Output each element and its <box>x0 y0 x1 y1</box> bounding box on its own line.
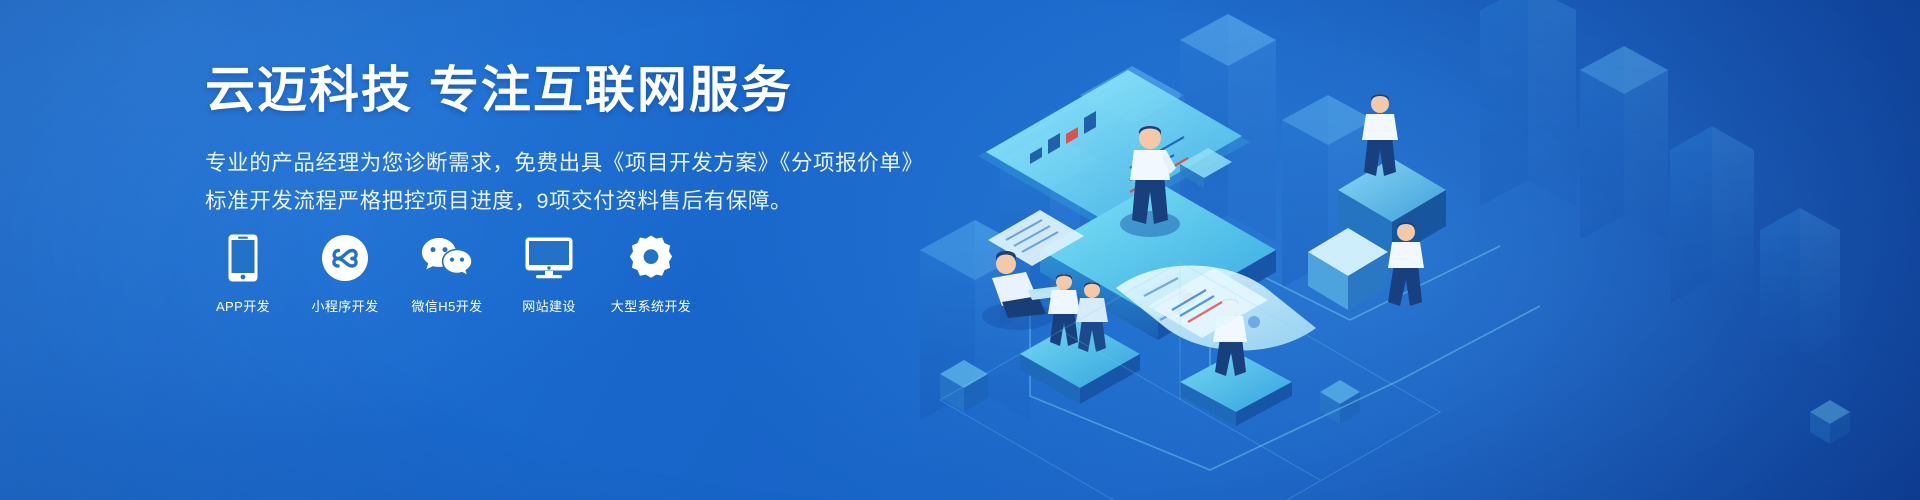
gear-icon <box>628 232 674 284</box>
service-item-wechat-h5[interactable]: 微信H5开发 <box>409 232 485 315</box>
service-label: 小程序开发 <box>311 296 378 315</box>
service-item-app[interactable]: APP开发 <box>205 232 281 315</box>
service-item-website[interactable]: 网站建设 <box>511 232 587 315</box>
hero-illustration <box>880 0 1920 500</box>
service-label: 大型系统开发 <box>611 296 691 315</box>
service-item-miniprogram[interactable]: 小程序开发 <box>307 232 383 315</box>
service-label: APP开发 <box>216 296 270 315</box>
wechat-icon <box>421 232 473 284</box>
monitor-icon <box>525 232 573 284</box>
subtitle-line-2: 标准开发流程严格把控项目进度，9项交付资料售后有保障。 <box>205 182 965 220</box>
hero-subtitle: 专业的产品经理为您诊断需求，免费出具《项目开发方案》《分项报价单》 标准开发流程… <box>205 144 965 221</box>
person-on-pedestal <box>1362 95 1398 177</box>
subtitle-line-1: 专业的产品经理为您诊断需求，免费出具《项目开发方案》《分项报价单》 <box>205 144 965 182</box>
service-label: 微信H5开发 <box>411 296 482 315</box>
hero-banner: 云迈科技 专注互联网服务 专业的产品经理为您诊断需求，免费出具《项目开发方案》《… <box>0 0 1920 500</box>
service-list: APP开发 小程序开发 <box>205 232 689 315</box>
service-item-large-system[interactable]: 大型系统开发 <box>613 232 689 315</box>
mobile-phone-icon <box>228 232 258 284</box>
mini-program-icon <box>322 232 368 284</box>
small-platform-a <box>1020 320 1140 404</box>
hero-copy: 云迈科技 专注互联网服务 专业的产品经理为您诊断需求，免费出具《项目开发方案》《… <box>205 62 965 221</box>
page-title: 云迈科技 专注互联网服务 <box>205 62 965 118</box>
service-label: 网站建设 <box>522 296 576 315</box>
